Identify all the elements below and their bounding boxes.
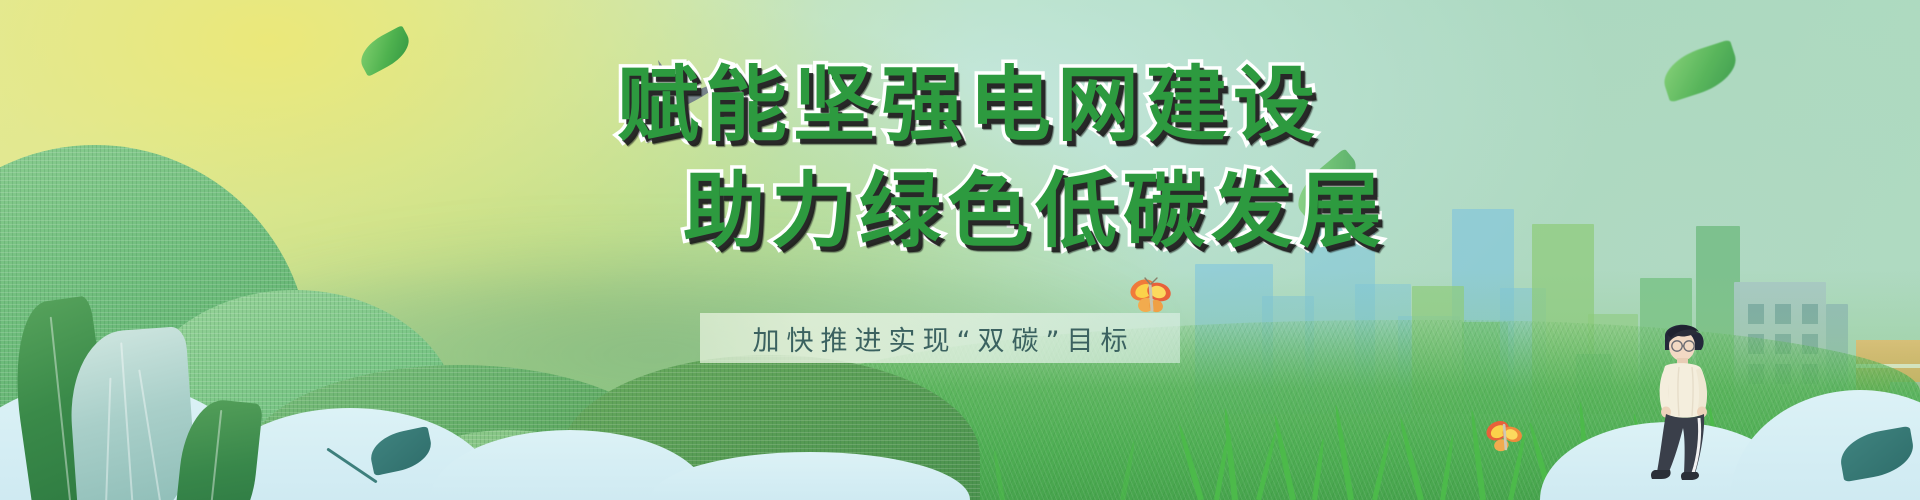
person-walking	[1635, 318, 1745, 488]
subtitle-bar: 加快推进实现“双碳”目标	[700, 313, 1180, 363]
subtitle-text: 加快推进实现“双碳”目标	[746, 319, 1135, 358]
swallow-bird-icon	[626, 56, 736, 126]
eco-banner: 赋能坚强电网建设 助力绿色低碳发展 加快推进实现“双碳”目标	[0, 0, 1920, 500]
butterfly-icon	[1482, 418, 1528, 458]
